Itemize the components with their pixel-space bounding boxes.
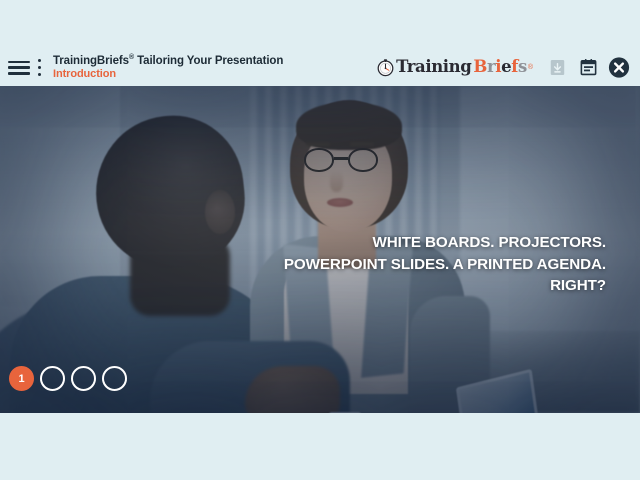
logo-registered-mark: ® (528, 64, 533, 71)
header-titles: TrainingBriefs® Tailoring Your Presentat… (53, 54, 283, 80)
logo-word-training: Training (396, 59, 471, 76)
dot (38, 73, 41, 76)
course-title: TrainingBriefs® Tailoring Your Presentat… (53, 54, 283, 67)
download-glyph (548, 58, 567, 77)
header-right-group: TrainingBriefs® (376, 57, 630, 79)
player-header: TrainingBriefs® Tailoring Your Presentat… (0, 49, 640, 86)
hamburger-line (8, 72, 30, 75)
download-icon[interactable] (546, 57, 568, 79)
course-title-brand: TrainingBriefs (53, 55, 129, 67)
close-glyph (608, 56, 630, 79)
logo-letter: e (501, 57, 511, 76)
logo-word-briefs: Briefs (473, 59, 526, 76)
hamburger-line (8, 66, 30, 69)
hamburger-line (8, 61, 30, 64)
pager-dot-3[interactable] (71, 366, 96, 391)
dot (38, 66, 41, 69)
dot (38, 59, 41, 62)
pager-dot-2[interactable] (40, 366, 65, 391)
logo-letter: s (518, 57, 527, 76)
vertical-dots-icon[interactable] (37, 59, 42, 76)
pager-dot-label: 1 (18, 373, 24, 385)
slide-pager: 1 (9, 366, 127, 391)
slide-caption: WHITE BOARDS. PROJECTORS. POWERPOINT SLI… (276, 232, 606, 297)
close-icon[interactable] (608, 57, 630, 79)
hamburger-menu-icon[interactable] (8, 60, 30, 76)
logo-letter: B (473, 57, 487, 76)
course-title-rest: Tailoring Your Presentation (134, 55, 283, 67)
header-left-group: TrainingBriefs® Tailoring Your Presentat… (8, 54, 283, 80)
pager-dot-1[interactable]: 1 (9, 366, 34, 391)
stopwatch-icon (376, 58, 395, 77)
section-title: Introduction (53, 69, 283, 81)
course-player: TrainingBriefs® Tailoring Your Presentat… (0, 0, 640, 480)
video-stage[interactable]: WHITE BOARDS. PROJECTORS. POWERPOINT SLI… (0, 86, 640, 413)
logo-letter: f (511, 57, 518, 76)
transcript-glyph (579, 58, 598, 77)
logo-letter: r (487, 57, 495, 76)
trainingbriefs-logo: TrainingBriefs® (376, 58, 533, 77)
pager-dot-4[interactable] (102, 366, 127, 391)
transcript-icon[interactable] (577, 57, 599, 79)
